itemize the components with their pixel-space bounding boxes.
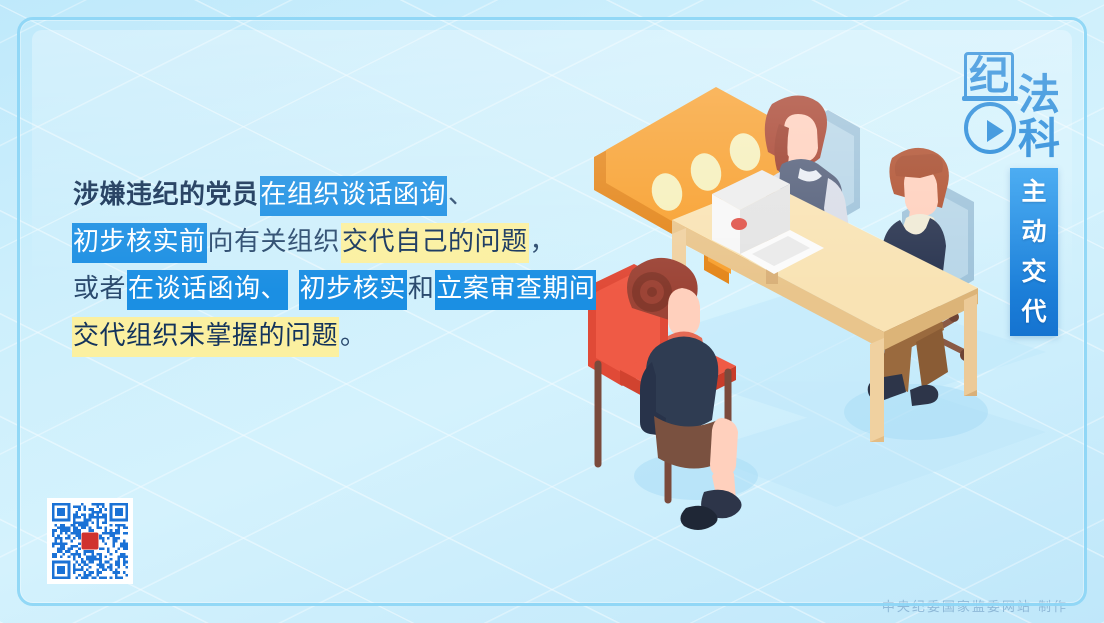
logo-bai-topbar — [962, 96, 1018, 101]
headline-text: 涉嫌违纪的党员在组织谈话函询、初步核实前向有关组织交代自己的问题，或者在谈话函询… — [72, 172, 612, 360]
headline-line-1: 初步核实前向有关组织交代自己的问题， — [72, 219, 612, 266]
headline-segment: 初步核实 — [299, 270, 407, 310]
logo-char-bai — [964, 102, 1016, 154]
poster-canvas: 涉嫌违纪的党员在组织谈话函询、初步核实前向有关组织交代自己的问题，或者在谈话函询… — [0, 0, 1104, 623]
logo-char-ji: 纪 — [964, 52, 1014, 100]
headline-segment: 和 — [407, 270, 436, 310]
headline-line-0: 涉嫌违纪的党员在组织谈话函询、 — [72, 172, 612, 219]
headline-segment: 涉嫌违纪的党员 — [72, 176, 260, 216]
banner-zhudongjiaodai: 主 动 交 代 — [1010, 168, 1058, 336]
qr-center-badge — [82, 533, 99, 550]
qr-code[interactable] — [47, 498, 133, 584]
footer-credit: 中央纪委国家监委网站 制作 — [882, 596, 1068, 615]
headline-segment: 立案审查期间 — [435, 270, 596, 310]
headline-segment — [288, 270, 299, 310]
headline-segment: 。 — [339, 317, 368, 357]
headline-segment: 或者 — [72, 270, 127, 310]
headline-line-3: 交代组织未掌握的问题。 — [72, 313, 612, 360]
headline-segment: ， — [529, 223, 558, 263]
logo-jifabaike: 纪 法 科 — [962, 52, 1074, 170]
headline-segment: 初步核实前 — [72, 223, 207, 263]
qr-modules — [52, 503, 128, 579]
play-icon — [987, 120, 1004, 142]
logo-char-ke: 科 — [1018, 118, 1060, 160]
headline-segment: 在谈话函询、 — [127, 270, 288, 310]
logo-char-fa: 法 — [1018, 74, 1060, 116]
headline-line-2: 或者在谈话函询、 初步核实和立案审查期间 — [72, 266, 612, 313]
headline-segment: 向有关组织 — [207, 223, 342, 263]
banner-char-1: 动 — [1021, 213, 1046, 251]
banner-char-3: 代 — [1021, 293, 1046, 331]
headline-segment: 交代自己的问题 — [341, 223, 529, 263]
headline-segment: 交代组织未掌握的问题 — [72, 317, 339, 357]
banner-char-2: 交 — [1021, 253, 1046, 291]
headline-segment: 、 — [447, 176, 476, 216]
banner-char-0: 主 — [1021, 173, 1046, 211]
headline-segment: 在组织谈话函询 — [260, 176, 448, 216]
